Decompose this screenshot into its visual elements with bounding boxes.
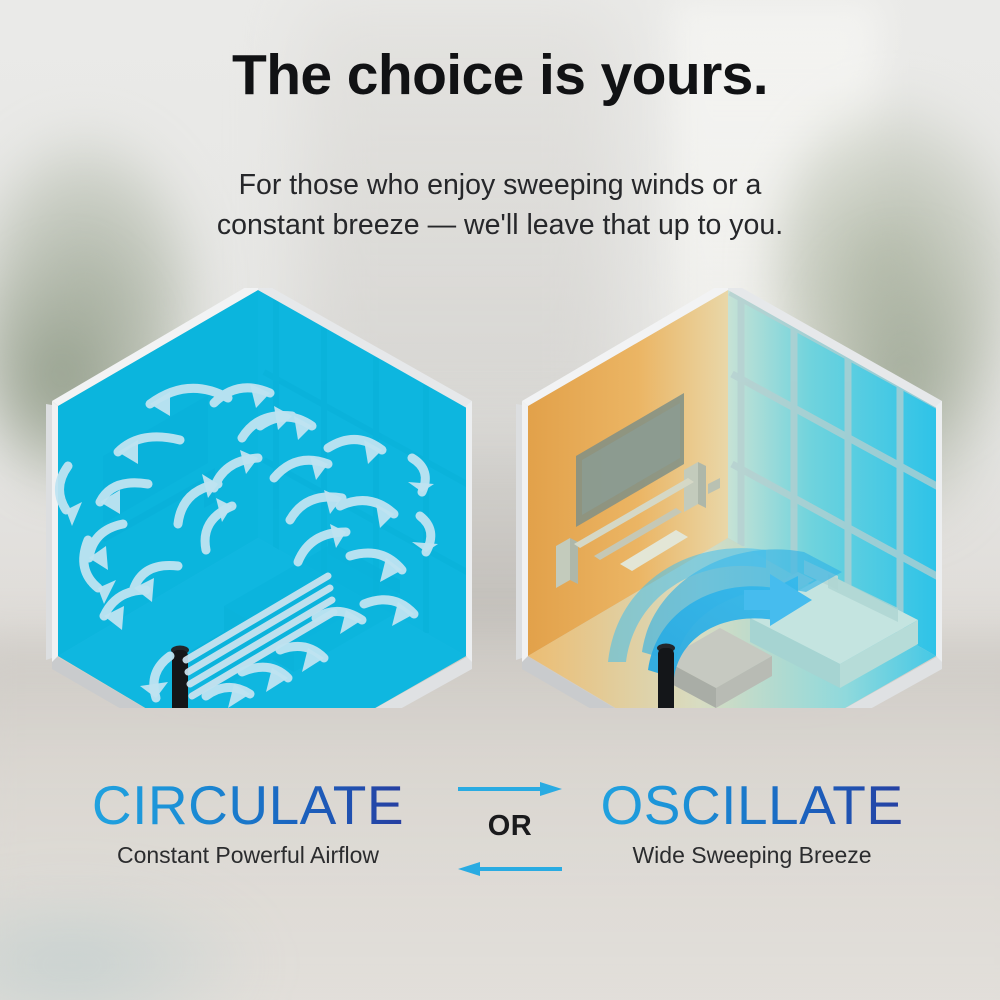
subtitle-line-1: For those who enjoy sweeping winds or a	[155, 165, 845, 205]
circulate-title: CIRCULATE	[48, 778, 448, 833]
circulate-diagram	[28, 288, 498, 713]
mode-circulate[interactable]: CIRCULATE Constant Powerful Airflow	[48, 778, 448, 869]
or-divider: OR	[452, 782, 568, 880]
oscillate-caption: Wide Sweeping Breeze	[552, 842, 952, 869]
poster-canvas: The choice is yours. For those who enjoy…	[0, 0, 1000, 1000]
arrow-left-icon	[456, 862, 564, 876]
circulate-caption: Constant Powerful Airflow	[48, 842, 448, 869]
or-label: OR	[452, 810, 568, 843]
page-title: The choice is yours.	[0, 46, 1000, 106]
oscillate-diagram	[498, 288, 968, 713]
mode-oscillate[interactable]: OSCILLATE Wide Sweeping Breeze	[552, 778, 952, 869]
subtitle-line-2: constant breeze — we'll leave that up to…	[155, 205, 845, 245]
arrow-right-icon	[456, 782, 564, 796]
oscillate-title: OSCILLATE	[552, 778, 952, 833]
page-subtitle: For those who enjoy sweeping winds or a …	[155, 165, 845, 246]
